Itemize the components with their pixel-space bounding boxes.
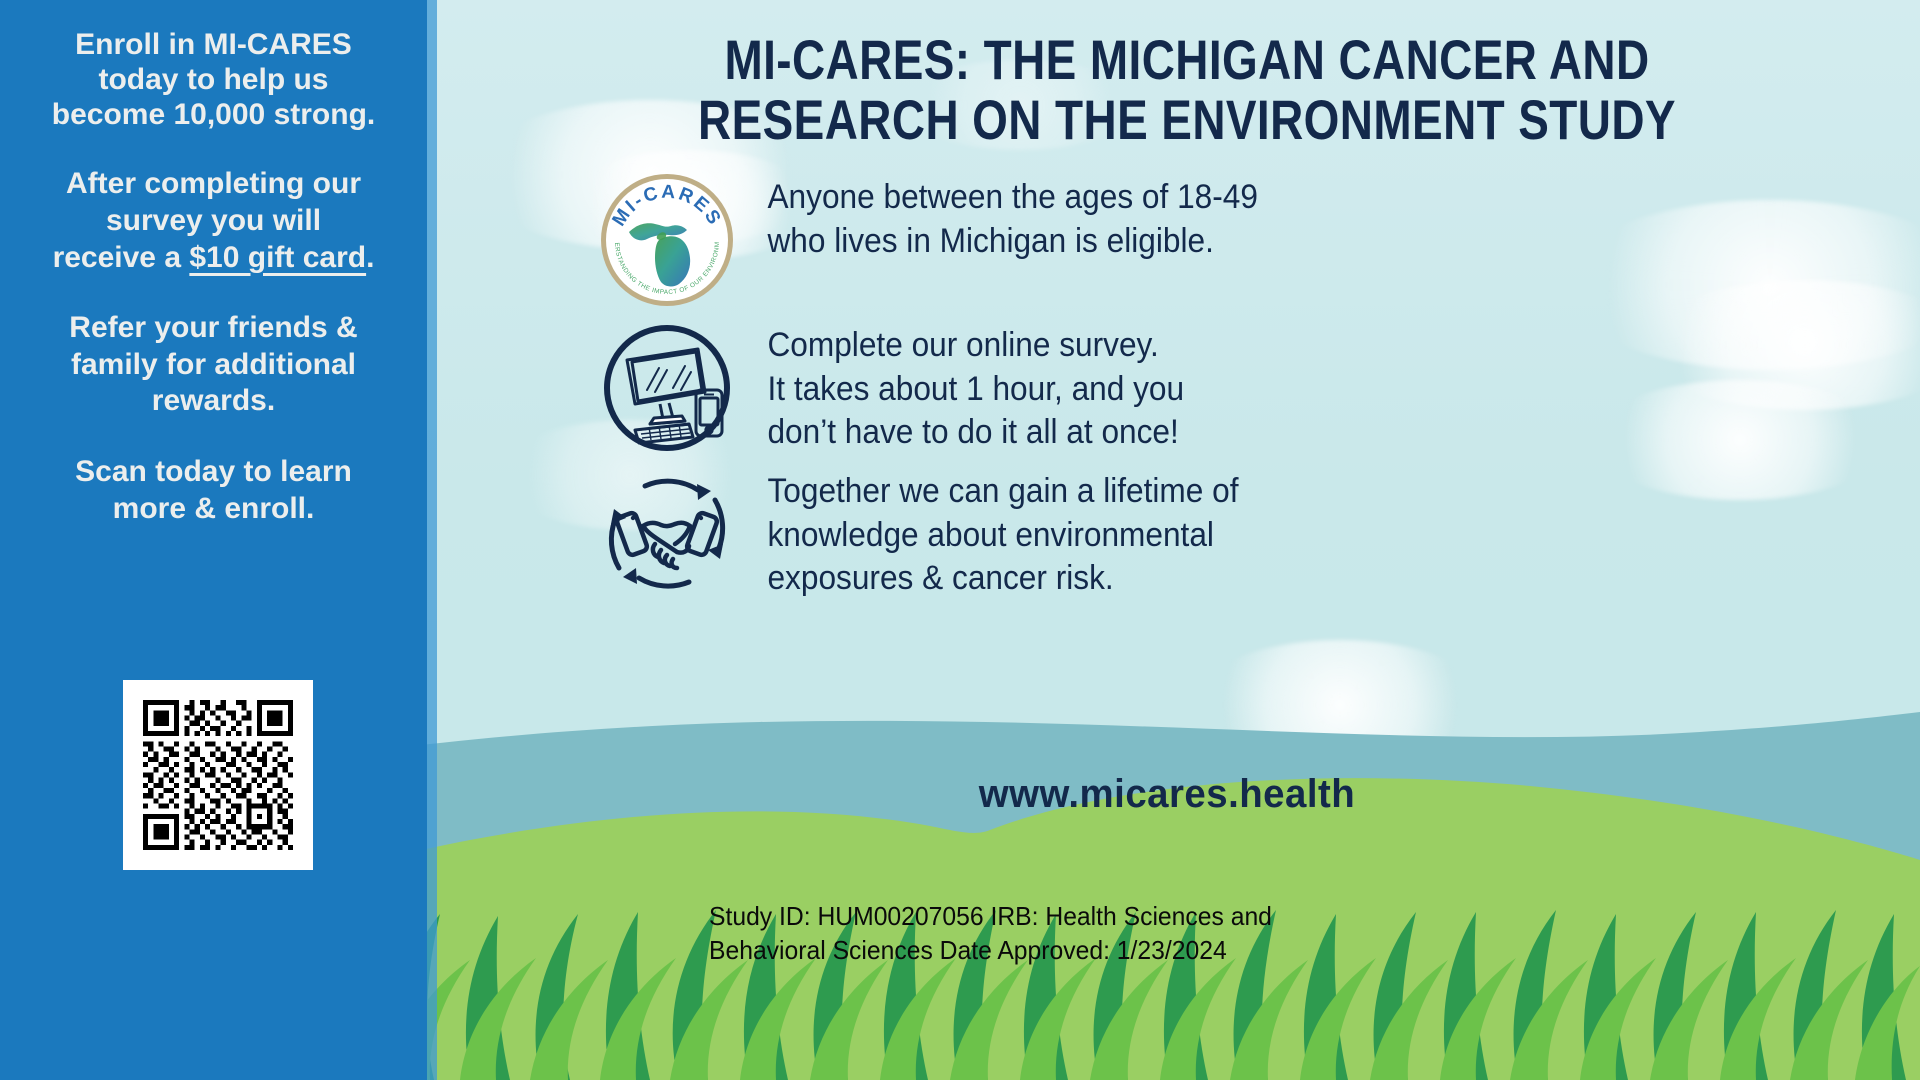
title-line-2: RESEARCH ON THE ENVIRONMENT STUDY (621, 90, 1753, 150)
left-p2-line1: After completing our (66, 167, 361, 200)
info-row-eligibility: MI-CARES UNDERSTANDING THE IMPACT OF OUR… (587, 170, 1887, 310)
computer-icon-svg (597, 318, 737, 458)
eligibility-line-1: Anyone between the ages of 18-49 (767, 176, 1257, 220)
left-blue-panel: Enroll in MI-CARES today to help us beco… (0, 0, 427, 1080)
website-url[interactable]: www.micares.health (610, 772, 1724, 817)
partnership-line-3: exposures & cancer risk. (767, 557, 1238, 601)
qr-code-icon[interactable] (143, 700, 293, 850)
handshake-cycle-icon (587, 464, 747, 604)
irb-line-1: Study ID: HUM00207056 IRB: Health Scienc… (709, 900, 1564, 934)
page-title: MI-CARES: THE MICHIGAN CANCER AND RESEAR… (621, 30, 1753, 151)
survey-text: Complete our online survey. It takes abo… (747, 318, 1184, 455)
micares-seal-logo: MI-CARES UNDERSTANDING THE IMPACT OF OUR… (597, 170, 737, 310)
left-p2-line3-suffix: . (366, 241, 374, 274)
info-row-survey: Complete our online survey. It takes abo… (587, 318, 1887, 458)
info-row-partnership: Together we can gain a lifetime of knowl… (587, 464, 1887, 604)
left-paragraph-enroll: Enroll in MI-CARES today to help us beco… (8, 28, 419, 132)
micares-seal-logo-icon: MI-CARES UNDERSTANDING THE IMPACT OF OUR… (587, 170, 747, 310)
panel-edge-divider (427, 0, 437, 1080)
handshake-icon-svg (597, 464, 737, 604)
flyer-poster: MI-CARES: THE MICHIGAN CANCER AND RESEAR… (0, 0, 1920, 1080)
left-p3-line1: Refer your friends & (69, 311, 357, 344)
left-paragraph-scan: Scan today to learn more & enroll. (8, 454, 419, 527)
title-line-1: MI-CARES: THE MICHIGAN CANCER AND (621, 30, 1753, 90)
right-content: MI-CARES: THE MICHIGAN CANCER AND RESEAR… (437, 0, 1920, 1080)
left-p3-line2: family for additional (71, 348, 356, 381)
irb-approval-text: Study ID: HUM00207056 IRB: Health Scienc… (709, 900, 1564, 968)
partnership-line-2: knowledge about environmental (767, 514, 1238, 558)
qr-code-container[interactable] (123, 680, 313, 870)
computer-monitor-keyboard-phone-icon (587, 318, 747, 458)
left-p4-line2: more & enroll. (113, 492, 315, 525)
left-p1-line2: today to help us (98, 63, 328, 96)
left-p3-line3: rewards. (152, 384, 275, 417)
survey-line-3: don’t have to do it all at once! (767, 411, 1184, 455)
left-p2-line2: survey you will (106, 204, 321, 237)
eligibility-text: Anyone between the ages of 18-49 who liv… (747, 170, 1258, 263)
partnership-line-1: Together we can gain a lifetime of (767, 470, 1238, 514)
info-rows: MI-CARES UNDERSTANDING THE IMPACT OF OUR… (587, 170, 1887, 614)
left-p1-line1: Enroll in MI-CARES (75, 28, 352, 61)
left-p1-line3: become 10,000 strong. (52, 98, 375, 131)
left-p2-line3-prefix: receive a (53, 241, 190, 274)
left-paragraph-giftcard: After completing our survey you will rec… (8, 166, 419, 276)
left-paragraph-refer: Refer your friends & family for addition… (8, 310, 419, 420)
irb-line-2: Behavioral Sciences Date Approved: 1/23/… (709, 934, 1564, 968)
left-p4-line1: Scan today to learn (75, 455, 352, 488)
left-panel-copy: Enroll in MI-CARES today to help us beco… (8, 28, 419, 527)
gift-card-amount: $10 gift card (189, 241, 366, 274)
survey-line-2: It takes about 1 hour, and you (767, 368, 1184, 412)
survey-line-1: Complete our online survey. (767, 324, 1184, 368)
eligibility-line-2: who lives in Michigan is eligible. (767, 220, 1257, 264)
partnership-text: Together we can gain a lifetime of knowl… (747, 464, 1239, 601)
